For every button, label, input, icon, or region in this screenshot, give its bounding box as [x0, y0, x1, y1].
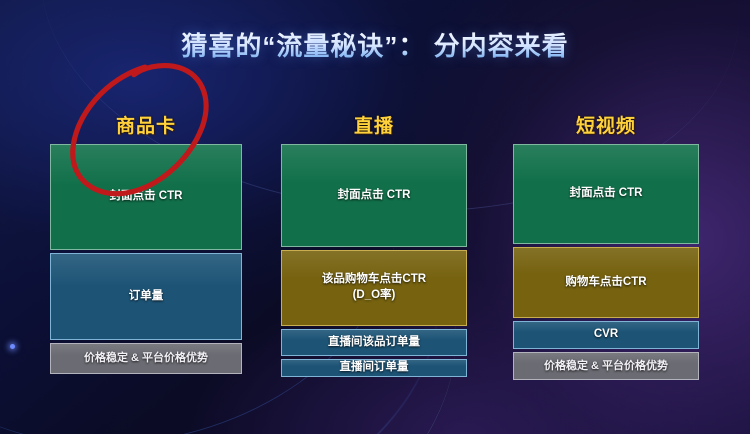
column-product-card: 商品卡 封面点击 CTR 订单量 价格稳定 & 平台价格优势 — [50, 112, 242, 377]
metric-label: 封面点击 CTR — [338, 188, 411, 204]
background-dot — [10, 344, 15, 349]
column-header-short-video: 短视频 — [513, 112, 699, 144]
slide-canvas: 猜喜的“流量秘诀”： 分内容来看 商品卡 封面点击 CTR 订单量 价格稳定 &… — [0, 0, 750, 434]
metric-label: 直播间订单量 — [340, 360, 409, 376]
metric-block-cart-click-ctr[interactable]: 该品购物车点击CTR (D_O率) — [281, 250, 467, 326]
metric-block-order-volume[interactable]: 订单量 — [50, 253, 242, 340]
metric-label: 封面点击 CTR — [110, 189, 183, 205]
metric-block-cover-click-ctr[interactable]: 封面点击 CTR — [513, 144, 699, 244]
block-stack-short-video: 封面点击 CTR 购物车点击CTR CVR 价格稳定 & 平台价格优势 — [513, 144, 699, 380]
metric-label: 直播间该品订单量 — [328, 335, 420, 351]
block-stack-live: 封面点击 CTR 该品购物车点击CTR (D_O率) 直播间该品订单量 直播间订… — [281, 144, 467, 377]
metric-label: CVR — [594, 327, 618, 343]
column-header-product-card: 商品卡 — [50, 112, 242, 144]
metric-block-price-advantage[interactable]: 价格稳定 & 平台价格优势 — [50, 343, 242, 374]
metric-sublabel: (D_O率) — [322, 288, 426, 304]
metric-block-live-room-orders[interactable]: 直播间订单量 — [281, 359, 467, 377]
column-short-video: 短视频 封面点击 CTR 购物车点击CTR CVR 价格稳定 & 平台价格优势 — [513, 112, 699, 383]
column-header-live: 直播 — [281, 112, 467, 144]
metric-label: 封面点击 CTR — [570, 186, 643, 202]
column-live: 直播 封面点击 CTR 该品购物车点击CTR (D_O率) 直播间该品订单量 直… — [281, 112, 467, 380]
block-stack-product-card: 封面点击 CTR 订单量 价格稳定 & 平台价格优势 — [50, 144, 242, 374]
metric-block-live-item-orders[interactable]: 直播间该品订单量 — [281, 329, 467, 356]
metric-label: 价格稳定 & 平台价格优势 — [544, 359, 668, 374]
metric-label: 订单量 — [129, 289, 164, 305]
metric-block-cover-click-ctr[interactable]: 封面点击 CTR — [281, 144, 467, 247]
metric-block-cover-click-ctr[interactable]: 封面点击 CTR — [50, 144, 242, 250]
metric-block-cart-click-ctr[interactable]: 购物车点击CTR — [513, 247, 699, 318]
metric-label: 价格稳定 & 平台价格优势 — [84, 351, 208, 366]
metric-block-cvr[interactable]: CVR — [513, 321, 699, 349]
metric-label: 该品购物车点击CTR — [322, 273, 426, 285]
metric-block-price-advantage[interactable]: 价格稳定 & 平台价格优势 — [513, 352, 699, 380]
metric-label-wrap: 该品购物车点击CTR (D_O率) — [322, 272, 426, 303]
metric-label: 购物车点击CTR — [565, 275, 646, 291]
page-title: 猜喜的“流量秘诀”： 分内容来看 — [0, 26, 750, 63]
